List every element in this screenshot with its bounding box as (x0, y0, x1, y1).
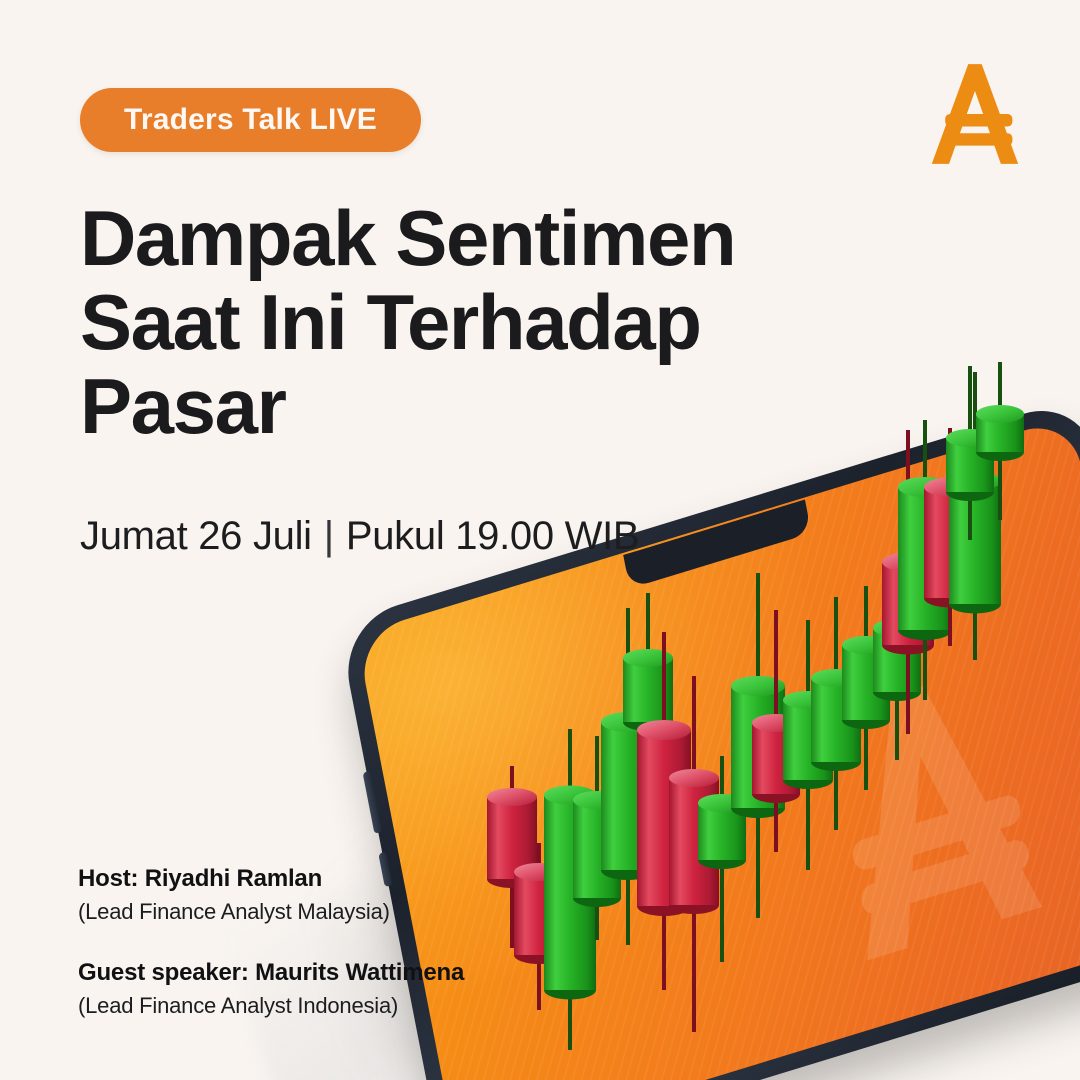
live-badge[interactable]: Traders Talk LIVE (80, 88, 421, 152)
austral-a-logo-icon[interactable] (926, 60, 1022, 168)
headline-line-2: Saat Ini Terhadap (80, 280, 810, 364)
event-time: Pukul 19.00 WIB (346, 514, 639, 558)
headline-line-3: Pasar (80, 364, 810, 448)
event-date: Jumat 26 Juli (80, 514, 312, 558)
speaker-credits: Host: Riyadhi Ramlan (Lead Finance Analy… (78, 865, 464, 1019)
guest-role: (Lead Finance Analyst Indonesia) (78, 993, 464, 1019)
event-schedule: Jumat 26 Juli|Pukul 19.00 WIB (80, 514, 639, 559)
phone-volume-button (363, 770, 383, 834)
headline-line-1: Dampak Sentimen (80, 196, 810, 280)
host-role: (Lead Finance Analyst Malaysia) (78, 899, 464, 925)
host-name: Host: Riyadhi Ramlan (78, 865, 464, 893)
guest-credit: Guest speaker: Maurits Wattimena (Lead F… (78, 959, 464, 1019)
promo-poster: Traders Talk LIVE Dampak Sentimen Saat I… (0, 0, 1080, 1080)
schedule-separator: | (312, 514, 346, 558)
guest-name: Guest speaker: Maurits Wattimena (78, 959, 464, 987)
host-credit: Host: Riyadhi Ramlan (Lead Finance Analy… (78, 865, 464, 925)
page-title: Dampak Sentimen Saat Ini Terhadap Pasar (80, 196, 810, 449)
